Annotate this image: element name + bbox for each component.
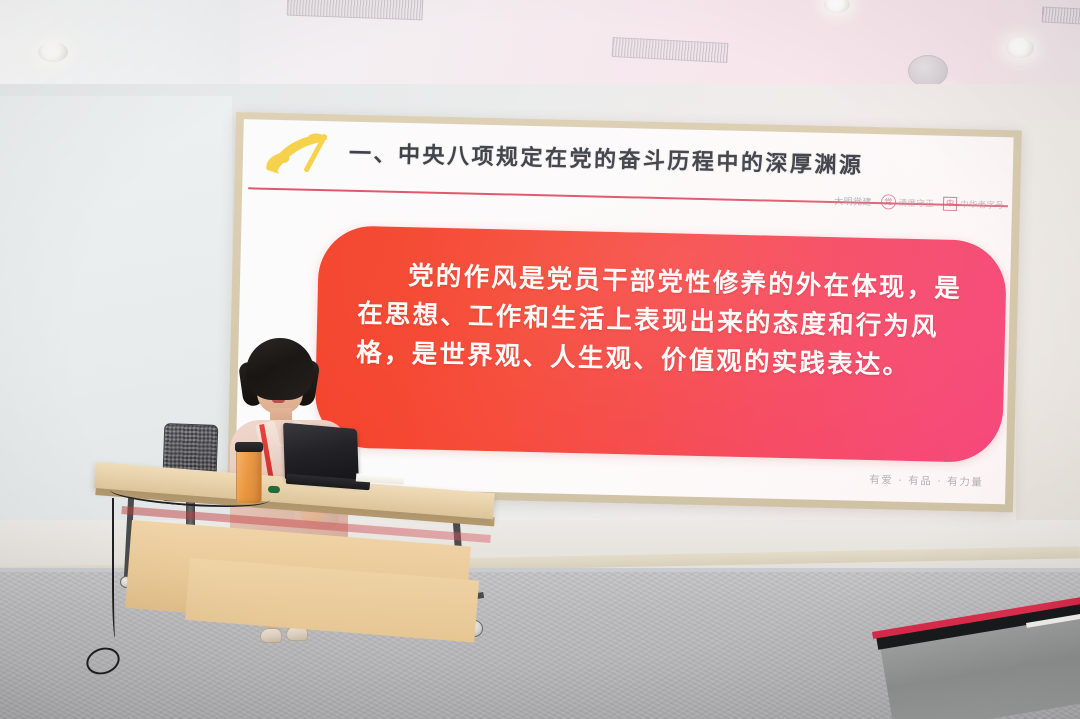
lecture-hall-scene: 一、中央八项规定在党的奋斗历程中的深厚渊源 大明党建 党 清廉守正 中 中华老字… bbox=[0, 0, 1080, 719]
slide-header: 一、中央八项规定在党的奋斗历程中的深厚渊源 大明党建 党 清廉守正 中 中华老字… bbox=[242, 119, 1013, 209]
daming-script-logo: 大明党建 bbox=[834, 194, 872, 208]
hammer-and-sickle-emblem-icon bbox=[260, 129, 335, 181]
ceiling-speaker-icon bbox=[908, 55, 948, 87]
slide-logo-strip: 大明党建 党 清廉守正 中 中华老字号 bbox=[834, 193, 1004, 212]
square-badge-glyph: 中 bbox=[943, 196, 957, 210]
circle-badge-glyph: 党 bbox=[881, 194, 896, 209]
circle-badge-caption: 清廉守正 bbox=[899, 196, 934, 209]
slide-content-card: 党的作风是党员干部党性修养的外在体现，是在思想、工作和生活上表现出来的态度和行为… bbox=[314, 225, 1007, 463]
ceiling-light-icon bbox=[824, 0, 850, 13]
circle-badge-logo: 党 清廉守正 bbox=[881, 194, 935, 210]
slide-title: 一、中央八项规定在党的奋斗历程中的深厚渊源 bbox=[349, 136, 864, 180]
air-vent bbox=[287, 0, 424, 20]
hair bbox=[246, 338, 314, 400]
ceiling-light-icon bbox=[1006, 38, 1034, 58]
shoe-left bbox=[260, 628, 282, 643]
slide-body-text: 党的作风是党员干部党性修养的外在体现，是在思想、工作和生活上表现出来的态度和行为… bbox=[356, 256, 981, 388]
air-vent bbox=[612, 37, 729, 63]
right-wall bbox=[1016, 120, 1080, 550]
tea-thermos-lid bbox=[235, 442, 263, 452]
ceiling-light-icon bbox=[38, 42, 68, 62]
slide-footer-tagline: 有爱 · 有品 · 有力量 bbox=[869, 472, 984, 490]
square-badge-logo: 中 中华老字号 bbox=[943, 196, 1004, 211]
air-vent bbox=[1042, 6, 1080, 25]
power-cable-drop bbox=[112, 498, 120, 638]
square-badge-caption: 中华老字号 bbox=[960, 198, 1004, 211]
